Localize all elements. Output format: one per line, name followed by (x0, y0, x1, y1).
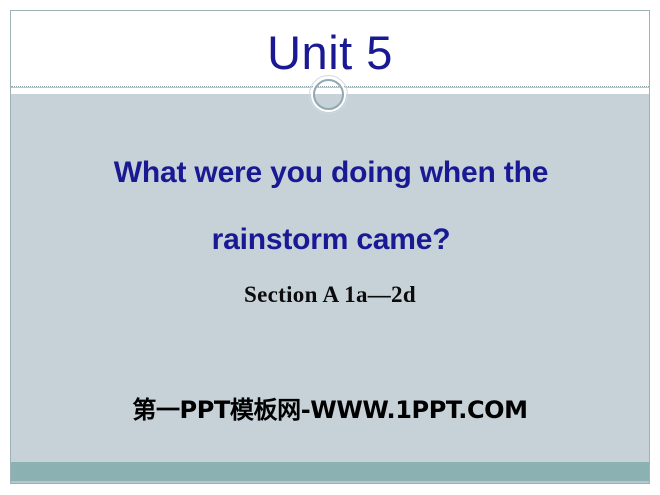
slide-canvas: Unit 5 What were you doing when the rain… (10, 10, 650, 484)
watermark-text: 第一PPT模板网-WWW.1PPT.COM (11, 390, 649, 425)
page-title: Unit 5 (11, 25, 649, 81)
main-heading-line-2: rainstorm came? (31, 206, 631, 273)
main-heading-line-1: What were you doing when the (31, 139, 631, 206)
slide-body: What were you doing when the rainstorm c… (11, 94, 649, 462)
bottom-accent-bar (11, 462, 649, 483)
section-subtitle: Section A 1a—2d (11, 282, 649, 308)
main-heading: What were you doing when the rainstorm c… (31, 139, 631, 273)
circle-ring-inner (313, 79, 344, 110)
circle-decoration-icon (309, 75, 348, 114)
bottom-accent-bar-edge (11, 481, 649, 483)
